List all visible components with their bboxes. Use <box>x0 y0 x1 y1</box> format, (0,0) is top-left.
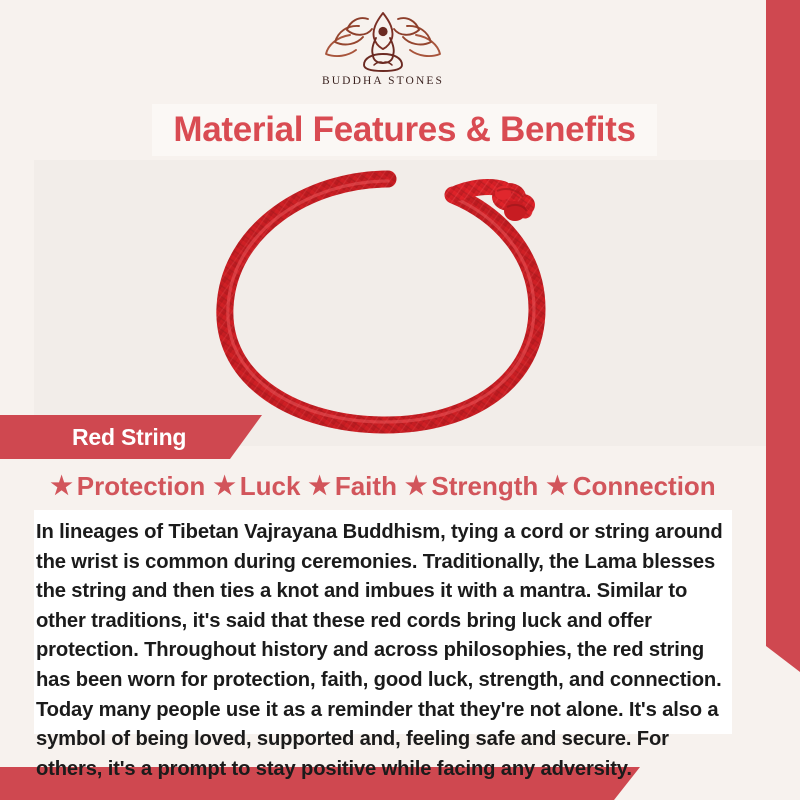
description-panel: In lineages of Tibetan Vajrayana Buddhis… <box>34 510 732 734</box>
title-banner: Material Features & Benefits <box>152 104 657 156</box>
star-icon: ★ <box>405 474 427 499</box>
star-icon: ★ <box>213 474 235 499</box>
benefit-item: ★ Protection <box>47 471 208 502</box>
red-braided-string-bracelet-icon <box>185 167 615 439</box>
decor-band-right <box>766 0 800 672</box>
benefit-label: Protection <box>77 471 206 502</box>
benefit-item: ★ Connection <box>543 471 718 502</box>
description-paragraph: In lineages of Tibetan Vajrayana Buddhis… <box>36 518 726 784</box>
infographic-page: BUDDHA STONES Material Features & Benefi… <box>0 0 800 800</box>
benefit-item: ★ Luck <box>210 471 303 502</box>
content-panel: BUDDHA STONES Material Features & Benefi… <box>0 0 766 767</box>
star-icon: ★ <box>308 474 330 499</box>
benefits-row: ★ Protection ★ Luck ★ Faith ★ Strength ★… <box>34 462 732 510</box>
page-title: Material Features & Benefits <box>173 110 635 150</box>
benefit-item: ★ Faith <box>305 471 400 502</box>
section-ribbon: Red String <box>0 415 262 459</box>
product-image <box>34 160 766 446</box>
benefit-label: Connection <box>573 471 716 502</box>
star-icon: ★ <box>546 474 568 499</box>
brand-wordmark: BUDDHA STONES <box>322 75 444 87</box>
benefit-item: ★ Strength <box>402 471 541 502</box>
brand-logo: BUDDHA STONES <box>0 8 766 87</box>
benefit-label: Luck <box>240 471 301 502</box>
star-icon: ★ <box>50 474 72 499</box>
benefit-label: Strength <box>431 471 538 502</box>
benefit-label: Faith <box>335 471 397 502</box>
lotus-meditation-icon <box>319 8 447 74</box>
ribbon-label: Red String <box>72 424 186 451</box>
